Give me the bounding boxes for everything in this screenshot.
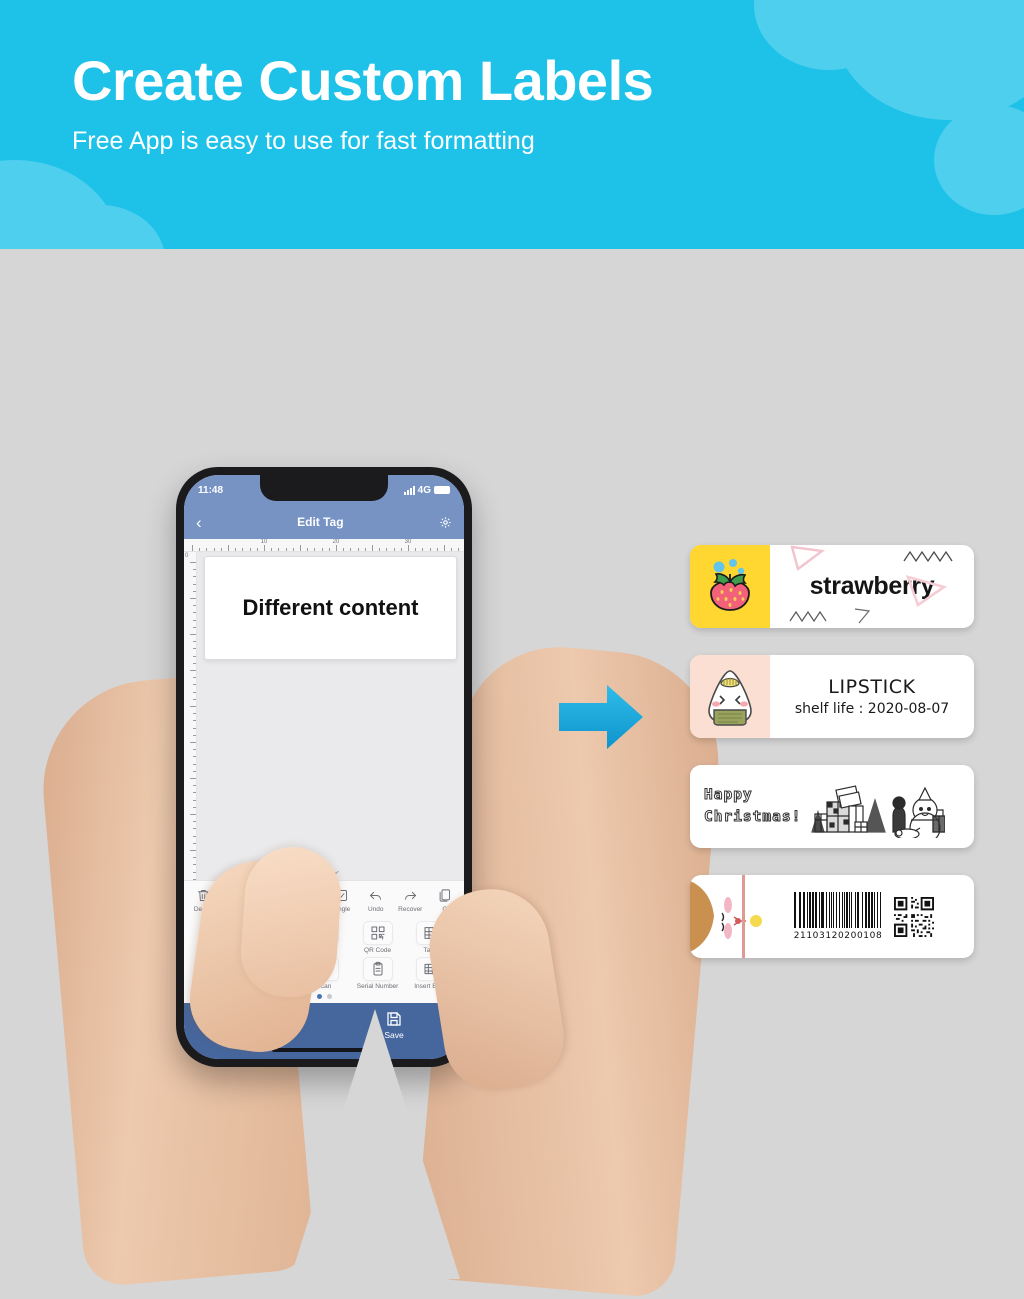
ruler-tick — [193, 756, 196, 757]
ruler-tick — [193, 800, 196, 801]
ruler-tick — [314, 548, 315, 551]
ruler-label: 10 — [261, 539, 268, 545]
toolbar-item-label: Undo — [359, 906, 394, 913]
label-sample-strawberry: strawberry — [690, 545, 974, 628]
page-title: Create Custom Labels — [72, 52, 1024, 111]
phone-notch — [260, 475, 388, 501]
ruler-tick — [190, 850, 196, 851]
battery-icon — [434, 486, 450, 494]
ruler-tick — [415, 548, 416, 551]
ruler-tick — [408, 545, 409, 551]
ruler-tick — [193, 713, 196, 714]
ruler-tick — [193, 807, 196, 808]
ruler-tick — [193, 656, 196, 657]
label-sample-christmas: Happy Christmas! — [690, 765, 974, 848]
ruler-tick — [193, 771, 196, 772]
ruler-tick — [190, 598, 196, 599]
ruler-tick — [190, 778, 196, 779]
ruler-tick — [190, 562, 196, 563]
ruler-tick — [193, 627, 196, 628]
ruler-tick — [458, 548, 459, 551]
ruler-tick — [250, 548, 251, 551]
ruler-tick — [193, 728, 196, 729]
strawberry-illustration — [690, 545, 770, 628]
ruler-tick — [221, 548, 222, 551]
ruler-tick — [193, 677, 196, 678]
clipboard-icon — [363, 957, 393, 981]
redo-arrow-icon — [393, 887, 428, 904]
qr-code-icon — [363, 921, 393, 945]
ruler-tick — [343, 548, 344, 551]
ruler-origin-label: 0 — [185, 553, 188, 559]
label-canvas-text: Different content — [243, 594, 419, 622]
product-stage: 11:48 4G ‹ Edit Tag 102030 — [0, 249, 1024, 1024]
ruler-tick — [190, 814, 196, 815]
label-canvas-card[interactable]: Different content — [204, 556, 457, 660]
ruler-tick — [190, 670, 196, 671]
ruler-tick — [193, 720, 196, 721]
ruler-tick — [401, 548, 402, 551]
ruler-tick — [193, 764, 196, 765]
ruler-tick — [193, 648, 196, 649]
ruler-tick — [193, 857, 196, 858]
ruler-tick — [193, 821, 196, 822]
toolbar-item-undo[interactable]: Undo — [359, 887, 394, 913]
ruler-tick — [444, 545, 445, 551]
ruler-tick — [193, 828, 196, 829]
barcode-bar — [881, 892, 882, 928]
ruler-tick — [193, 641, 196, 642]
ruler-tick — [193, 843, 196, 844]
ruler-tick — [451, 548, 452, 551]
tool-label: Serial Number — [351, 983, 405, 990]
hero-banner: Create Custom Labels Free App is easy to… — [0, 0, 1024, 249]
ruler-tick — [193, 749, 196, 750]
ruler-tick — [329, 548, 330, 551]
ruler-tick — [214, 548, 215, 551]
label-subtitle: shelf life : 2020-08-07 — [795, 701, 949, 717]
ruler-tick — [271, 548, 272, 551]
ruler-tick — [193, 591, 196, 592]
ruler-tick — [193, 663, 196, 664]
ruler-tick — [190, 634, 196, 635]
ruler-tick — [193, 864, 196, 865]
ruler-tick — [193, 584, 196, 585]
ruler-tick — [278, 548, 279, 551]
ruler-tick — [193, 620, 196, 621]
ruler-tick — [193, 576, 196, 577]
ruler-tick — [199, 548, 200, 551]
vertical-ruler: 0 — [184, 552, 197, 880]
ruler-tick — [336, 545, 337, 551]
ruler-tick — [430, 548, 431, 551]
ruler-tick — [235, 548, 236, 551]
ruler-tick — [372, 545, 373, 551]
ruler-tick — [193, 569, 196, 570]
label-sample-lipstick: LIPSTICK shelf life : 2020-08-07 — [690, 655, 974, 738]
strawberry-text-pane: strawberry — [770, 545, 974, 628]
ruler-tick — [350, 548, 351, 551]
canvas-area: 0 Different content ⌄⌄ — [184, 552, 464, 880]
ruler-tick — [193, 879, 196, 880]
horizontal-ruler: 102030 — [184, 539, 464, 552]
label-text: Happy Christmas! — [704, 785, 801, 827]
tool-serial-number[interactable]: Serial Number — [351, 955, 405, 991]
ruler-tick — [193, 872, 196, 873]
signal-bars-icon — [404, 486, 415, 495]
ruler-tick — [193, 605, 196, 606]
ruler-tick — [192, 545, 193, 551]
undo-arrow-icon — [359, 887, 394, 904]
page-dot[interactable] — [317, 994, 322, 999]
ruler-label: 20 — [333, 539, 340, 545]
ruler-tick — [257, 548, 258, 551]
page-subtitle: Free App is easy to use for fast formatt… — [72, 127, 1024, 156]
ruler-tick — [193, 735, 196, 736]
pressing-finger — [238, 844, 344, 1000]
lipstick-text-pane: LIPSTICK shelf life : 2020-08-07 — [770, 655, 974, 738]
home-indicator — [272, 1048, 376, 1052]
app-header: ‹ Edit Tag — [184, 505, 464, 539]
ruler-tick — [228, 545, 229, 551]
ruler-tick — [193, 612, 196, 613]
ruler-tick — [300, 545, 301, 551]
ruler-tick — [193, 699, 196, 700]
ruler-tick — [193, 684, 196, 685]
ruler-tick — [206, 548, 207, 551]
ruler-tick — [264, 545, 265, 551]
ruler-tick — [190, 706, 196, 707]
ruler-tick — [422, 548, 423, 551]
ruler-tick — [365, 548, 366, 551]
ruler-tick — [322, 548, 323, 551]
toolbar-item-recover[interactable]: Recover — [393, 887, 428, 913]
work-surface[interactable]: Different content ⌄⌄ — [197, 552, 464, 880]
cat-face-illustration — [690, 875, 764, 958]
ruler-tick — [193, 692, 196, 693]
qr-code-icon — [894, 897, 934, 937]
page-dot[interactable] — [327, 994, 332, 999]
ruler-tick — [293, 548, 294, 551]
chevron-left-icon[interactable]: ‹ — [196, 514, 202, 531]
tool-qr-code[interactable]: QR Code — [351, 919, 405, 955]
arrow-right-icon — [557, 681, 645, 753]
barcode-number: 21103120200108 — [794, 931, 883, 941]
gear-icon[interactable] — [439, 516, 452, 529]
ruler-tick — [193, 785, 196, 786]
label-title: LIPSTICK — [828, 676, 915, 698]
status-time: 11:48 — [198, 485, 223, 496]
onigiri-character-illustration — [690, 655, 770, 738]
ruler-tick — [193, 836, 196, 837]
christmas-scene-illustration — [809, 776, 945, 838]
ruler-tick — [190, 742, 196, 743]
barcode: 21103120200108 — [794, 892, 883, 941]
network-label: 4G — [418, 485, 431, 496]
toolbar-item-label: Recover — [393, 906, 428, 913]
ruler-tick — [286, 548, 287, 551]
ruler-tick — [193, 792, 196, 793]
tool-label: QR Code — [351, 947, 405, 954]
label-text: strawberry — [810, 572, 935, 601]
ruler-tick — [242, 548, 243, 551]
label-sample-barcode: 21103120200108 — [690, 875, 974, 958]
ruler-tick — [358, 548, 359, 551]
ruler-tick — [379, 548, 380, 551]
ruler-tick — [307, 548, 308, 551]
ruler-label: 30 — [405, 539, 412, 545]
label-samples-list: strawberry — [690, 545, 974, 958]
ruler-tick — [394, 548, 395, 551]
ruler-tick — [386, 548, 387, 551]
ruler-tick — [437, 548, 438, 551]
app-title: Edit Tag — [297, 515, 343, 529]
